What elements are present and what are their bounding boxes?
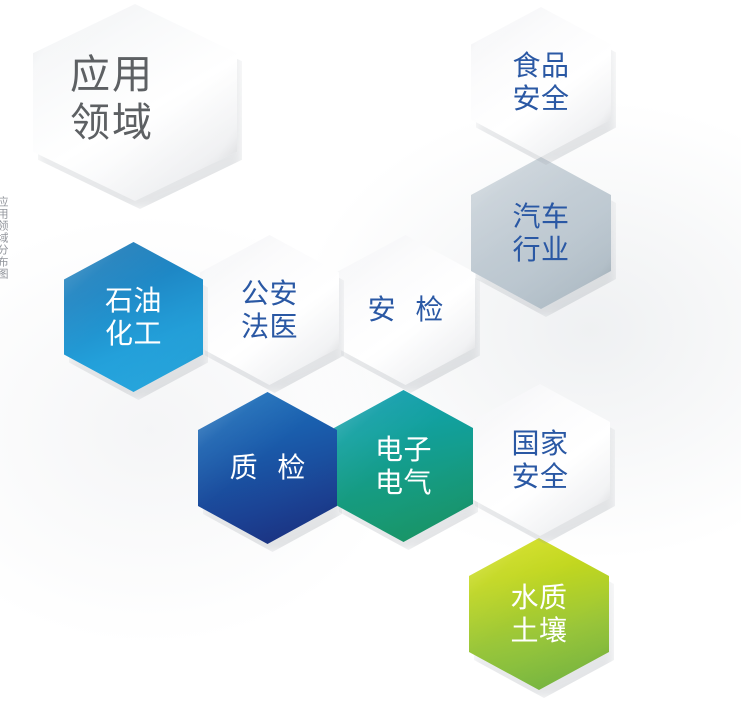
hexagon-petrochemical[interactable]: 石油 化工 [64, 242, 203, 392]
hexagon-title[interactable]: 应用 领域 [33, 4, 237, 201]
hexagon-label-automotive: 汽车 行业 [512, 200, 569, 266]
hexagon-label-food-safety: 食品 安全 [512, 49, 569, 115]
hexagon-label-electronics-electrical: 电子 电气 [375, 433, 432, 499]
hexagon-label-national-security: 国家 安全 [511, 427, 568, 493]
hexagon-label-public-security-forensics: 公安 法医 [241, 277, 298, 343]
hexagon-label-petrochemical: 石油 化工 [105, 284, 162, 350]
hexagon-water-soil[interactable]: 水质 土壤 [469, 538, 609, 690]
hexagon-public-security-forensics[interactable]: 公安 法医 [200, 235, 339, 385]
hexagon-security-inspection[interactable]: 安 检 [336, 235, 475, 385]
hexagon-label-security-inspection: 安 检 [362, 293, 450, 326]
hexagon-national-security[interactable]: 国家 安全 [470, 384, 610, 536]
hexagon-electronics-electrical[interactable]: 电子 电气 [334, 390, 473, 542]
hexagon-food-safety[interactable]: 食品 安全 [471, 7, 611, 157]
left-edge-caption: 应用领域分布图 [0, 196, 8, 300]
hexagon-automotive[interactable]: 汽车 行业 [471, 157, 611, 309]
hexagon-label-quality-inspection: 质 检 [224, 451, 312, 484]
hexagon-label-title: 应用 领域 [70, 52, 154, 146]
hexagon-label-water-soil: 水质 土壤 [510, 581, 567, 647]
hexagon-diagram-canvas: 应用领域分布图 应用 领域食品 安全汽车 行业石油 化工公安 法医安 检质 检电… [0, 0, 741, 703]
hexagon-quality-inspection[interactable]: 质 检 [198, 392, 337, 544]
